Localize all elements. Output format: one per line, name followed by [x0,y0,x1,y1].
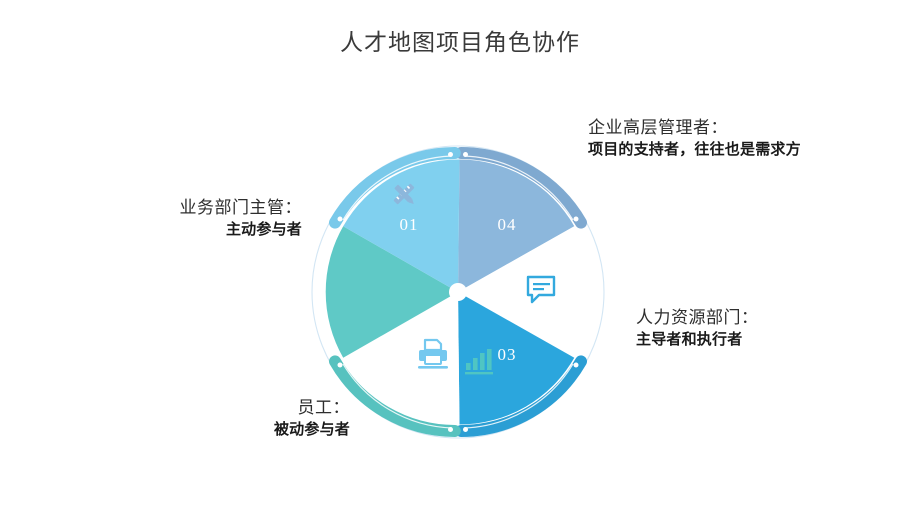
callout-staff: 员工： 被动参与者 [150,396,350,440]
sector-01-dot-start [338,217,343,222]
wheel-center-hub [449,283,467,301]
sector-02-dot-end [448,427,453,432]
callout-business-manager: 业务部门主管： 主动参与者 [86,196,302,240]
sector-03-dot-start [574,363,579,368]
callout-staff-role: 员工： [150,396,350,419]
callout-hr: 人力资源部门： 主导者和执行者 [636,306,886,350]
callout-hr-desc: 主导者和执行者 [636,329,886,350]
sector-04-dot-start [463,152,468,157]
sector-02-dot-start [338,363,343,368]
callout-executive-desc: 项目的支持者，往往也是需求方 [588,139,846,160]
page-title: 人才地图项目角色协作 [0,28,920,58]
slide-canvas: 人才地图项目角色协作 04 [0,0,920,517]
callout-executive-role: 企业高层管理者： [588,116,846,139]
sector-01-dot-end [448,152,453,157]
sector-02-number: 02 [400,345,419,364]
callout-business-manager-role: 业务部门主管： [86,196,302,219]
callout-staff-desc: 被动参与者 [150,419,350,440]
sector-03-dot-end [463,427,468,432]
sector-01-number: 01 [400,215,419,234]
callout-executive: 企业高层管理者： 项目的支持者，往往也是需求方 [588,116,846,160]
sector-03-number: 03 [498,345,517,364]
sector-04-number: 04 [498,215,517,234]
callout-hr-role: 人力资源部门： [636,306,886,329]
sector-04-dot-end [574,217,579,222]
callout-business-manager-desc: 主动参与者 [86,219,302,240]
